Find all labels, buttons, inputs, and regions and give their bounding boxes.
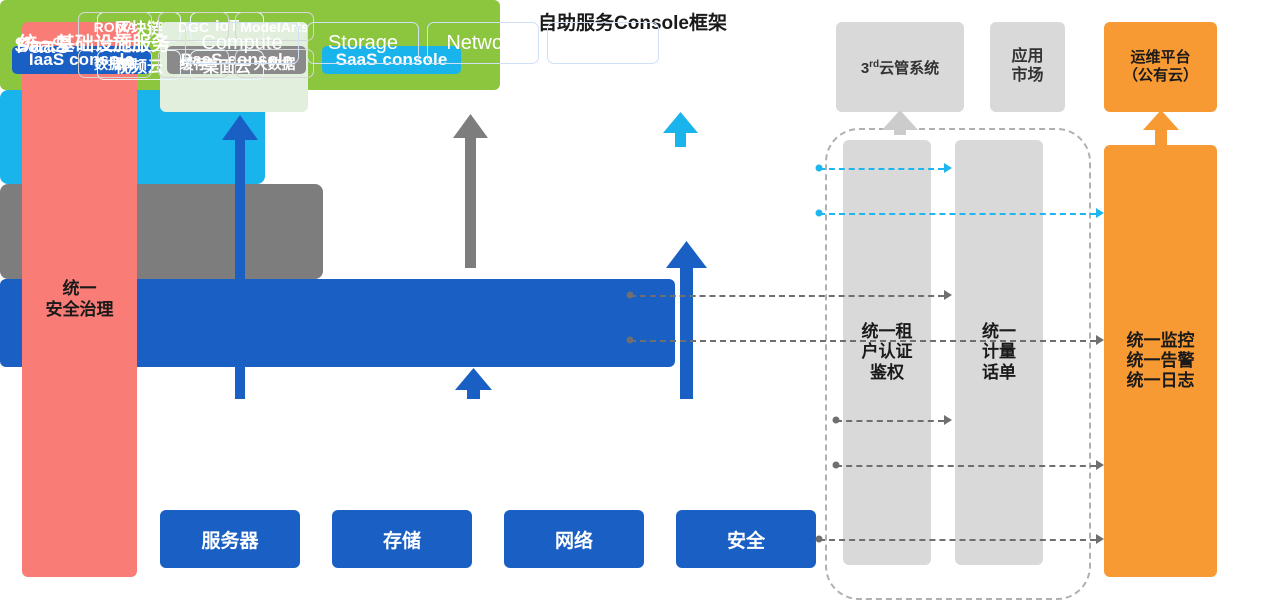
ops-panel-label: 统一监控 统一告警 统一日志: [1127, 331, 1195, 391]
security-panel-label: 统一 安全治理: [46, 279, 114, 319]
connector-arrowhead-paas-2: [1096, 335, 1104, 345]
arrow-saas-to-saas-console: [663, 112, 698, 147]
connector-saas-ops-2: [819, 213, 1096, 215]
connector-infra-ops-2: [836, 465, 1096, 467]
resource-box-server[interactable]: 服务器: [160, 510, 300, 568]
unified-security-governance-panel: 统一 安全治理: [22, 22, 137, 577]
resource-box-storage[interactable]: 存储: [332, 510, 472, 568]
infra-chip-storage[interactable]: Storage: [307, 22, 419, 64]
connector-resource-ops: [819, 539, 1096, 541]
resource-box-network[interactable]: 网络: [504, 510, 644, 568]
connector-arrowhead-resource: [1096, 534, 1104, 544]
connector-arrowhead-saas-1: [944, 163, 952, 173]
unified-tenant-auth-label: 统一租 户认证 鉴权: [862, 322, 913, 382]
connector-paas-ops-2: [630, 340, 1096, 342]
ops-top-label: 运维平台 （公有云）: [1123, 49, 1198, 84]
infra-chip-compute[interactable]: Compute: [185, 22, 299, 64]
connector-arrowhead-paas-1: [944, 290, 952, 300]
connector-saas-auth-1: [819, 168, 944, 170]
resource-box-security[interactable]: 安全: [676, 510, 816, 568]
unified-tenant-auth-column: 统一租 户认证 鉴权: [843, 140, 931, 565]
ops-platform-public-cloud-box: 运维平台 （公有云）: [1104, 22, 1217, 112]
arrow-infra-to-paas: [455, 368, 492, 399]
connector-paas-auth-1: [630, 295, 944, 297]
architecture-diagram: 统一 安全治理 API网关 自助服务Console框架 IaaS console…: [0, 0, 1265, 605]
infrastructure-label: 统一基础设施服务: [18, 29, 170, 56]
connector-infra-auth-1: [836, 420, 944, 422]
app-market-box: 应用 市场: [990, 22, 1065, 112]
unified-monitoring-panel: 统一监控 统一告警 统一日志: [1104, 145, 1217, 577]
app-market-label: 应用 市场: [1011, 48, 1043, 86]
infra-chip-network[interactable]: Network: [427, 22, 539, 64]
arrow-middle-to-ops-platform: [1143, 110, 1179, 145]
connector-arrowhead-saas-2: [1096, 208, 1104, 218]
unified-metering-column: 统一 计量 话单: [955, 140, 1043, 565]
unified-metering-label: 统一 计量 话单: [982, 322, 1016, 382]
connector-arrowhead-infra-1: [944, 415, 952, 425]
arrow-paas-to-console: [453, 114, 488, 268]
third-party-label: 3rd云管系统: [861, 57, 939, 78]
third-party-cloud-management-box: 3rd云管系统: [836, 22, 964, 112]
infra-chip-cce[interactable]: CCE: [547, 22, 659, 64]
connector-arrowhead-infra-2: [1096, 460, 1104, 470]
